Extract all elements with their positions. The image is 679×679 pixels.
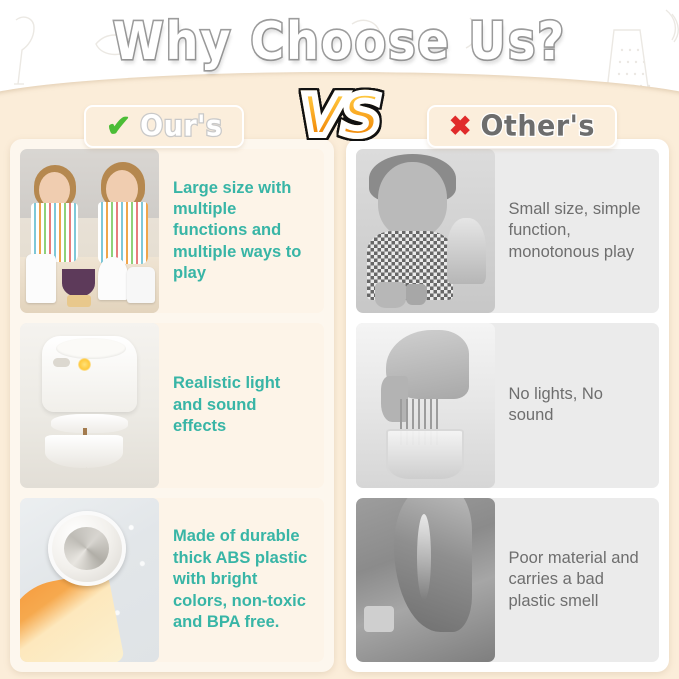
check-mark-icon: ✔ [106,112,131,142]
other-row-2-image [356,323,495,487]
ours-row-2-text: Realistic light and sound effects [159,323,324,487]
ours-row-3-text: Made of durable thick ABS plastic with b… [159,498,324,662]
other-row-3-image [356,498,495,662]
cross-mark-icon: ✖ [449,113,472,140]
ours-row-1-text: Large size with multiple functions and m… [159,149,324,313]
other-row-1-image [356,149,495,313]
vs-badge-text: VS [300,88,379,145]
other-row-2-text: No lights, No sound [495,323,660,487]
ours-row-3-image [20,498,159,662]
ours-row-1-image [20,149,159,313]
ours-row-3: Made of durable thick ABS plastic with b… [20,498,324,662]
other-label-pill: ✖ Other's [427,105,617,148]
other-row-2: No lights, No sound [356,323,660,487]
ours-row-2-image [20,323,159,487]
page-title: Why Choose Us? [113,11,566,71]
ours-panel: Large size with multiple functions and m… [10,139,334,672]
comparison-infographic: Why Choose Us? ✔ Our's ✖ Other's VS [0,0,679,679]
ours-row-1: Large size with multiple functions and m… [20,149,324,313]
ours-label-text: Our's [140,110,222,143]
other-row-3-text: Poor material and carries a bad plastic … [495,498,660,662]
ours-row-2: Realistic light and sound effects [20,323,324,487]
comparison-panels: Large size with multiple functions and m… [10,139,669,672]
page-title-container: Why Choose Us? [0,14,679,68]
vs-badge: VS [292,79,388,153]
other-row-1-text: Small size, simple function, monotonous … [495,149,660,313]
other-label-text: Other's [480,110,595,143]
ours-label-pill: ✔ Our's [84,105,244,148]
other-row-3: Poor material and carries a bad plastic … [356,498,660,662]
other-row-1: Small size, simple function, monotonous … [356,149,660,313]
other-panel: Small size, simple function, monotonous … [346,139,670,672]
